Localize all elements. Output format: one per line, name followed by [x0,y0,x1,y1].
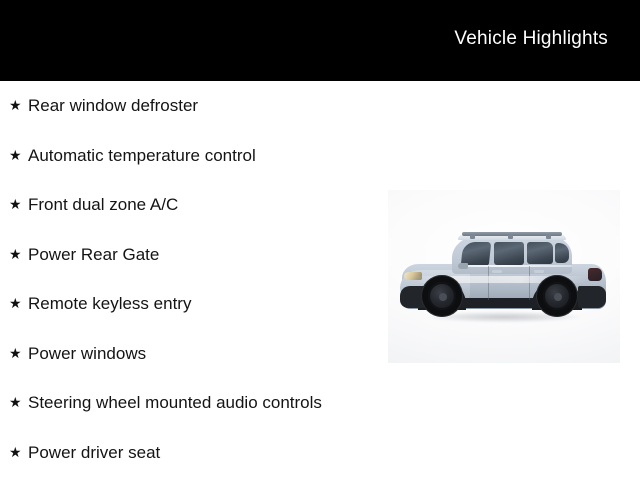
highlight-label: Power driver seat [28,443,160,462]
header-bar: Vehicle Highlights [0,0,640,81]
taillight [588,268,602,281]
front-hub [439,293,447,301]
list-item: ★ Power Rear Gate [0,230,322,280]
list-item: ★ Steering wheel mounted audio controls [0,378,322,428]
vehicle-photo-inner [388,190,620,363]
highlight-label: Rear window defroster [28,96,198,115]
roof-rail-foot [470,234,475,239]
list-item: ★ Remote keyless entry [0,279,322,329]
front-rim [428,282,456,310]
highlight-label: Power windows [28,344,146,363]
star-icon: ★ [9,81,22,131]
content-area: ★ Rear window defroster ★ Automatic temp… [0,81,640,480]
door-shutline [529,266,530,300]
vehicle-highlights-list: ★ Rear window defroster ★ Automatic temp… [0,81,322,477]
rear-wheel [536,275,578,317]
highlight-label: Steering wheel mounted audio controls [28,393,322,412]
star-icon: ★ [9,378,22,428]
chrome-beltline [460,265,572,267]
door-handle [492,270,502,273]
highlight-label: Power Rear Gate [28,245,159,264]
rear-window [527,242,553,264]
list-item: ★ Power windows [0,329,322,379]
star-icon: ★ [9,329,22,379]
side-mirror [458,263,468,269]
star-icon: ★ [9,131,22,181]
star-icon: ★ [9,279,22,329]
list-item: ★ Rear window defroster [0,81,322,131]
star-icon: ★ [9,180,22,230]
star-icon: ★ [9,428,22,478]
door-shutline [488,266,489,300]
list-item: ★ Front dual zone A/C [0,180,322,230]
rear-hub [554,293,562,301]
list-item: ★ Power driver seat [0,428,322,478]
rocker-cladding [456,298,546,308]
rear-rim [543,282,571,310]
highlight-label: Remote keyless entry [28,294,191,313]
front-wheel [421,275,463,317]
page-title: Vehicle Highlights [454,28,608,50]
middle-window [494,242,524,265]
door-handle [534,270,544,273]
highlight-label: Front dual zone A/C [28,195,178,214]
roof-rail-foot [546,234,551,239]
star-icon: ★ [9,230,22,280]
highlight-label: Automatic temperature control [28,146,256,165]
suv-illustration [396,224,612,324]
rear-bumper [578,286,606,308]
roof-rail-foot [508,234,513,239]
quarter-window [555,243,569,263]
vehicle-photo [388,190,620,363]
list-item: ★ Automatic temperature control [0,131,322,181]
